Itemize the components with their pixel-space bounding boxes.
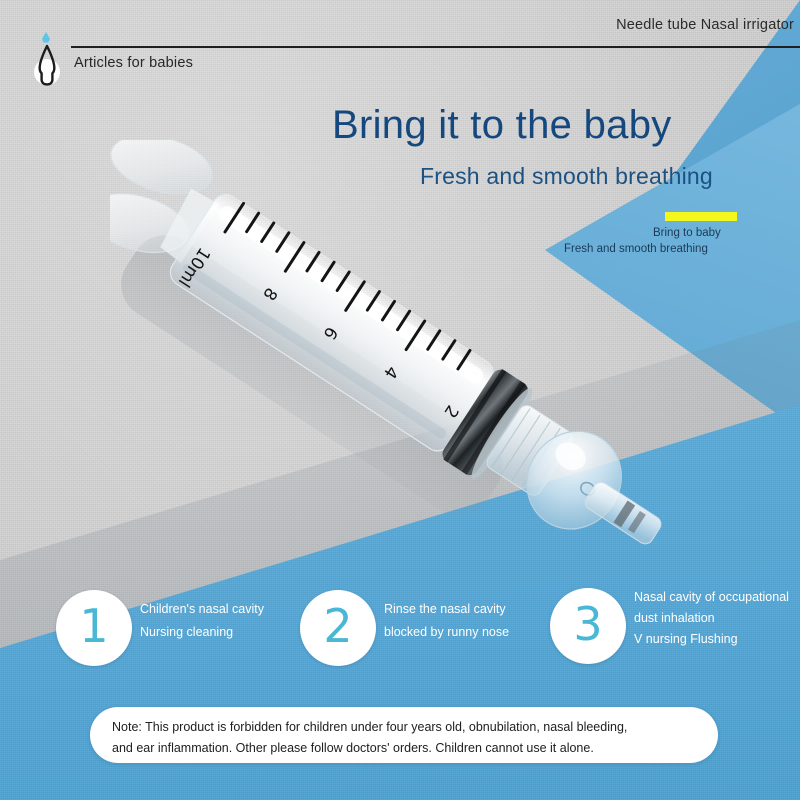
water-drop-icon — [42, 32, 50, 43]
step-3-badge: 3 — [550, 588, 626, 664]
warning-note-line-2: and ear inflammation. Other please follo… — [112, 738, 704, 759]
step-3-number: 3 — [573, 601, 602, 647]
nose-icon — [34, 44, 60, 86]
product-kicker: Needle tube Nasal irrigator — [616, 17, 794, 33]
brand-logo — [28, 30, 64, 86]
header-divider — [71, 46, 800, 48]
step-1-number: 1 — [79, 603, 108, 649]
product-banner: Articles for babies Needle tube Nasal ir… — [0, 0, 800, 800]
step-1-description: Children's nasal cavity Nursing cleaning — [140, 598, 264, 644]
step-2-line-1: Rinse the nasal cavity — [384, 598, 509, 621]
step-2-number: 2 — [323, 603, 352, 649]
brand-name: Articles for babies — [74, 55, 193, 71]
step-3-line-2: dust inhalation — [634, 608, 789, 629]
warning-note-line-1: Note: This product is forbidden for chil… — [112, 717, 704, 738]
step-1-line-1: Children's nasal cavity — [140, 598, 264, 621]
step-1-badge: 1 — [56, 590, 132, 666]
step-3-description: Nasal cavity of occupational dust inhala… — [634, 587, 789, 650]
step-2-line-2: blocked by runny nose — [384, 621, 509, 644]
warning-note-text: Note: This product is forbidden for chil… — [112, 717, 704, 759]
step-3-line-1: Nasal cavity of occupational — [634, 587, 789, 608]
step-2-badge: 2 — [300, 590, 376, 666]
step-3-line-3: V nursing Flushing — [634, 629, 789, 650]
product-image-nasal-irrigator: 10ml 8 6 4 2 — [110, 140, 690, 560]
warning-note-box: Note: This product is forbidden for chil… — [90, 707, 718, 763]
step-2-description: Rinse the nasal cavity blocked by runny … — [384, 598, 509, 644]
step-1-line-2: Nursing cleaning — [140, 621, 264, 644]
